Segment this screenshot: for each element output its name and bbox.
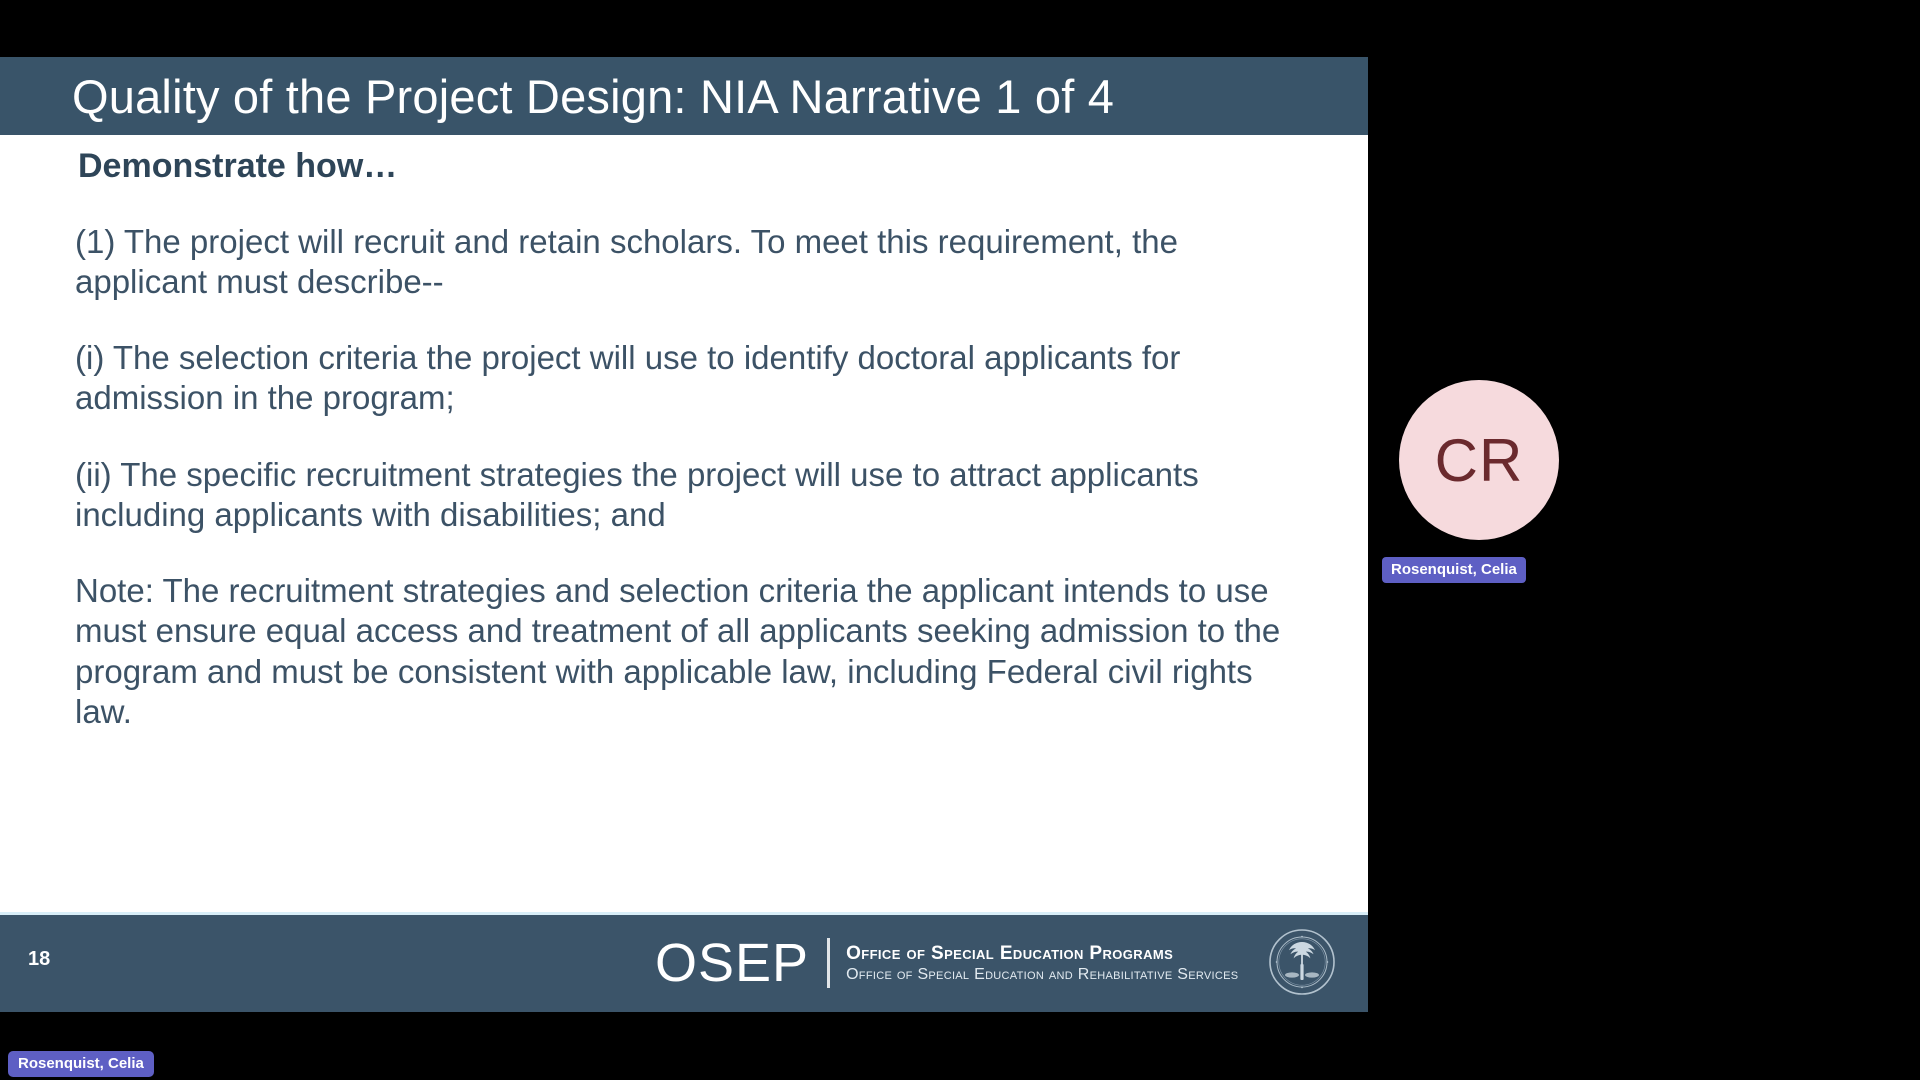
participant-video-tile[interactable]: CR Rosenquist, Celia: [1368, 57, 1920, 1012]
slide-title: Quality of the Project Design: NIA Narra…: [72, 69, 1114, 124]
active-speaker-label: Rosenquist, Celia: [8, 1051, 154, 1077]
slide-paragraph-1: (1) The project will recruit and retain …: [75, 222, 1302, 303]
osep-logo: OSEP Office of Special Education Program…: [655, 931, 1238, 995]
slide-paragraph-ii: (ii) The specific recruitment strategies…: [75, 455, 1302, 536]
osep-office-name: Office of Special Education Programs: [846, 942, 1238, 965]
slide-footer: 18 OSEP Office of Special Education Prog…: [0, 912, 1368, 1012]
osep-wordmark: OSEP: [655, 936, 809, 990]
participant-name-badge: Rosenquist, Celia: [1382, 557, 1526, 583]
osep-text-block: Office of Special Education Programs Off…: [846, 942, 1238, 985]
slide-title-bar: Quality of the Project Design: NIA Narra…: [0, 57, 1368, 135]
meeting-screen: Quality of the Project Design: NIA Narra…: [0, 0, 1920, 1080]
slide-paragraph-i: (i) The selection criteria the project w…: [75, 338, 1302, 419]
page-number: 18: [28, 948, 50, 971]
logo-divider: [827, 938, 830, 988]
slide-body-heading: Demonstrate how…: [78, 145, 1302, 188]
avatar-initials: CR: [1435, 426, 1524, 495]
participant-avatar[interactable]: CR: [1399, 380, 1559, 540]
slide-paragraph-note: Note: The recruitment strategies and sel…: [75, 571, 1302, 732]
osep-department-name: Office of Special Education and Rehabili…: [846, 965, 1238, 985]
department-of-education-seal-icon: [1268, 928, 1336, 996]
slide-body: Demonstrate how… (1) The project will re…: [72, 145, 1302, 732]
presentation-slide[interactable]: Quality of the Project Design: NIA Narra…: [0, 57, 1368, 1012]
